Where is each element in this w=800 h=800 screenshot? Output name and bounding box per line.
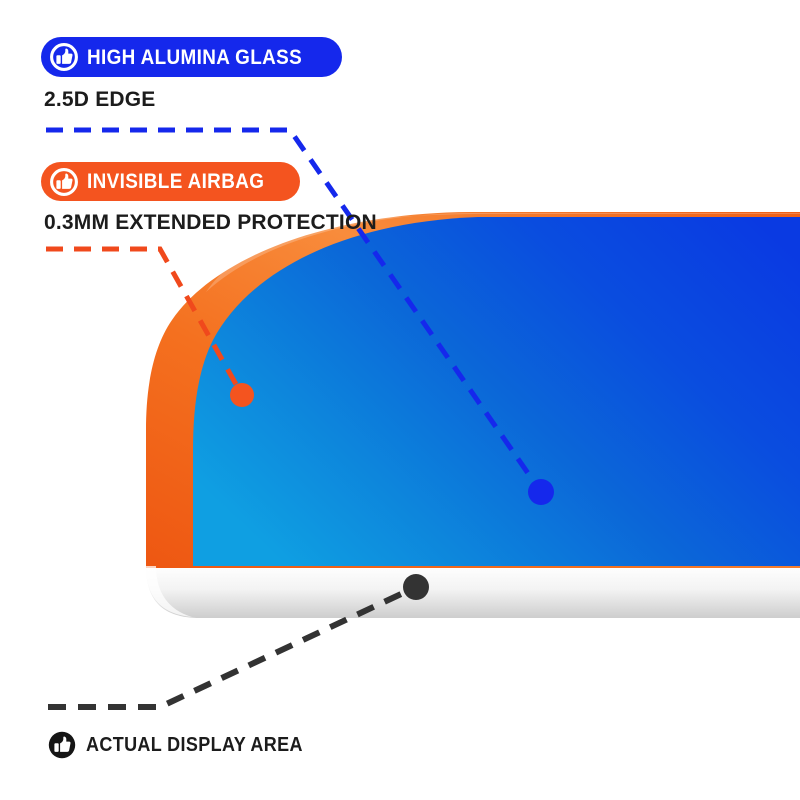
callout-badge-actual-display-area[interactable]: ACTUAL DISPLAY AREA [48,728,327,762]
thumbs-up-icon [50,43,78,71]
display-glass-area [193,217,800,566]
marker-dot-high-alumina-glass [528,479,554,505]
thumbs-up-icon [50,168,78,196]
callout-badge-invisible-airbag[interactable]: INVISIBLE AIRBAG [41,162,300,201]
product-illustration [0,0,800,800]
marker-dot-invisible-airbag [230,383,254,407]
callout-badge-label: ACTUAL DISPLAY AREA [86,735,303,755]
device-bottom-bezel [146,566,800,618]
product-body [146,212,800,618]
callout-badge-label: HIGH ALUMINA GLASS [87,47,302,68]
marker-dot-actual-display-area [403,574,429,600]
callout-badge-label: INVISIBLE AIRBAG [87,171,264,192]
callout-caption-2-5d-edge: 2.5D EDGE [44,89,156,110]
callout-caption-extended-protection: 0.3MM EXTENDED PROTECTION [44,212,377,233]
callout-badge-high-alumina-glass[interactable]: HIGH ALUMINA GLASS [41,37,342,77]
screenshot-canvas: HIGH ALUMINA GLASS 2.5D EDGE INVISIBLE A… [0,0,800,800]
thumbs-up-icon [48,731,76,759]
